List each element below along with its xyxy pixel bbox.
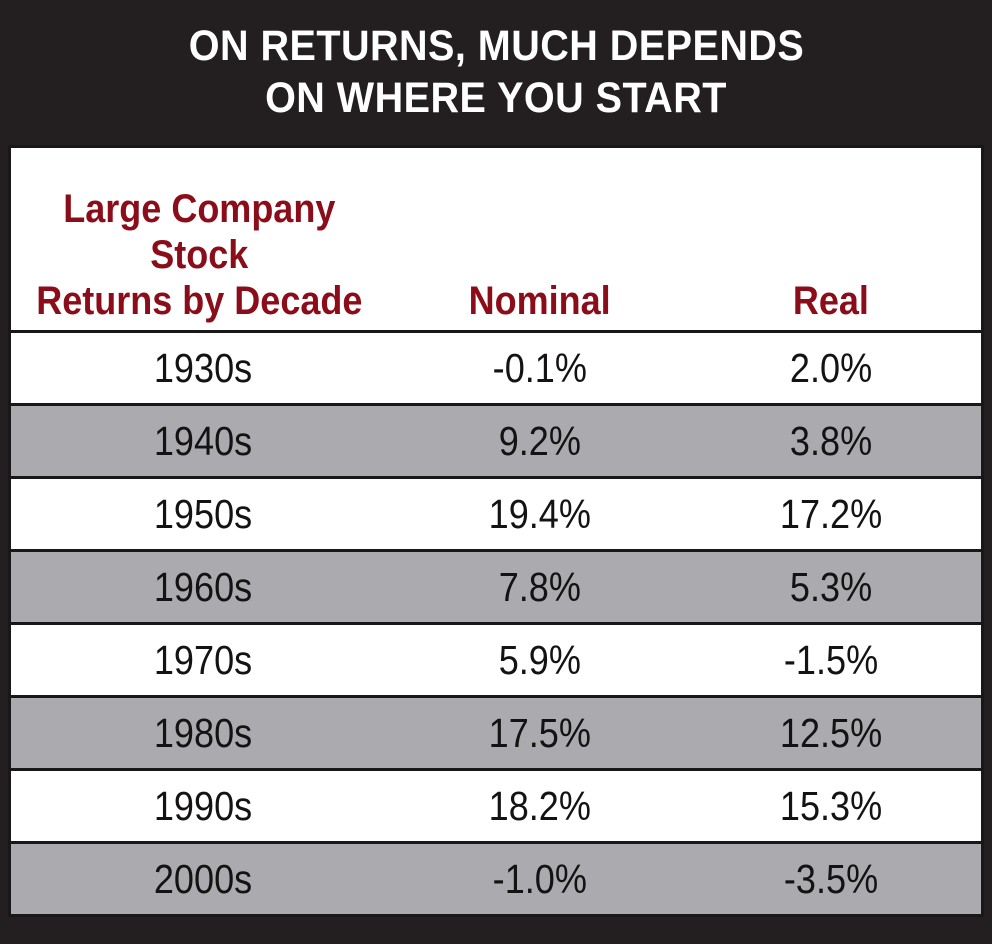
cell-real: 2.0% (712, 345, 964, 391)
cell-nominal: -1.0% (421, 856, 677, 902)
table-row: 1980s 17.5% 12.5% (11, 695, 981, 768)
cell-real: 17.2% (712, 491, 964, 537)
column-header-decade: Large Company Stock Returns by Decade (31, 186, 385, 324)
cell-real: 5.3% (712, 564, 964, 610)
cell-decade: 1940s (35, 418, 381, 464)
returns-table: Large Company Stock Returns by Decade No… (8, 145, 984, 917)
table-row: 2000s -1.0% -3.5% (11, 841, 981, 914)
cell-decade: 1950s (35, 491, 381, 537)
column-header-real: Real (709, 278, 967, 324)
cell-real: 12.5% (712, 710, 964, 756)
column-header-decade-line-2: Returns by Decade (31, 278, 368, 324)
cell-real: 15.3% (712, 783, 964, 829)
cell-nominal: 17.5% (421, 710, 677, 756)
table-body: Large Company Stock Returns by Decade No… (11, 148, 981, 914)
table-row: 1990s 18.2% 15.3% (11, 768, 981, 841)
cell-nominal: 18.2% (421, 783, 677, 829)
cell-decade: 2000s (35, 856, 381, 902)
cell-real: 3.8% (712, 418, 964, 464)
cell-decade: 1990s (35, 783, 381, 829)
cell-real: -1.5% (712, 637, 964, 683)
table-row: 1940s 9.2% 3.8% (11, 403, 981, 476)
cell-nominal: 5.9% (421, 637, 677, 683)
column-header-decade-line-1: Large Company Stock (31, 186, 368, 278)
cell-decade: 1980s (35, 710, 381, 756)
cell-decade: 1970s (35, 637, 381, 683)
title-line-2: ON WHERE YOU START (265, 72, 727, 124)
cell-nominal: 9.2% (421, 418, 677, 464)
cell-real: -3.5% (712, 856, 964, 902)
cell-nominal: 7.8% (421, 564, 677, 610)
table-row: 1930s -0.1% 2.0% (11, 330, 981, 403)
title-banner: ON RETURNS, MUCH DEPENDS ON WHERE YOU ST… (0, 0, 992, 144)
cell-nominal: -0.1% (421, 345, 677, 391)
cell-nominal: 19.4% (421, 491, 677, 537)
table-header-row: Large Company Stock Returns by Decade No… (11, 148, 981, 330)
cell-decade: 1930s (35, 345, 381, 391)
table-row: 1970s 5.9% -1.5% (11, 622, 981, 695)
table-row: 1960s 7.8% 5.3% (11, 549, 981, 622)
footer-strip (0, 917, 992, 944)
infographic-poster: ON RETURNS, MUCH DEPENDS ON WHERE YOU ST… (0, 0, 992, 944)
title-line-1: ON RETURNS, MUCH DEPENDS (188, 20, 803, 72)
table-rows: 1930s -0.1% 2.0% 1940s 9.2% 3.8% 1950s 1… (11, 330, 981, 914)
column-header-nominal: Nominal (418, 278, 680, 324)
cell-decade: 1960s (35, 564, 381, 610)
table-row: 1950s 19.4% 17.2% (11, 476, 981, 549)
